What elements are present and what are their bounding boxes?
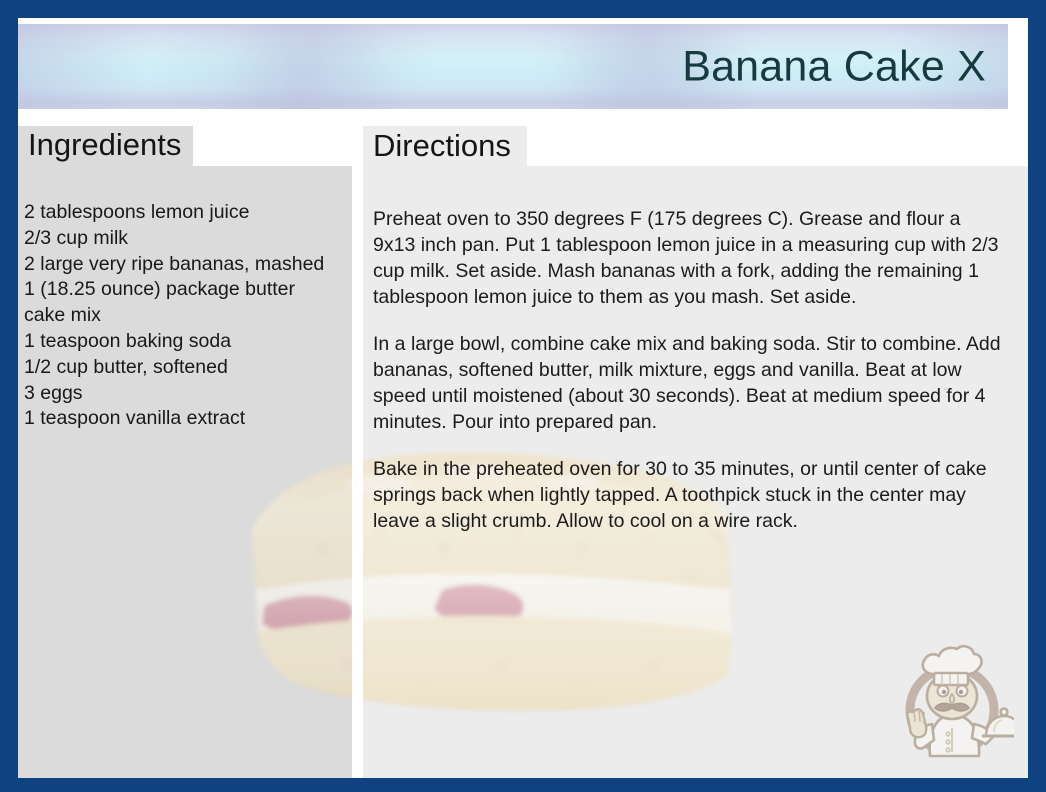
ingredient-line: 2 tablespoons lemon juice bbox=[24, 200, 364, 226]
ingredient-line: 2 large very ripe bananas, mashed bbox=[24, 252, 364, 278]
ingredient-line: 1 teaspoon vanilla extract bbox=[24, 406, 364, 432]
direction-paragraph: Bake in the preheated oven for 30 to 35 … bbox=[373, 456, 1006, 534]
direction-paragraph: Preheat oven to 350 degrees F (175 degre… bbox=[373, 206, 1006, 310]
recipe-card: Banana Cake X Preheat oven to 350 degree… bbox=[0, 0, 1046, 792]
page-title: Banana Cake X bbox=[682, 42, 986, 91]
directions-heading: Directions bbox=[373, 128, 511, 164]
ingredient-line: cake mix bbox=[24, 303, 364, 329]
panel-divider bbox=[352, 166, 363, 778]
directions-text: Preheat oven to 350 degrees F (175 degre… bbox=[373, 206, 1006, 534]
chef-with-cloche-logo bbox=[890, 640, 1014, 764]
ingredient-line: 1 (18.25 ounce) package butter bbox=[24, 277, 364, 303]
ingredient-line: 3 eggs bbox=[24, 381, 364, 407]
header-banner: Banana Cake X bbox=[18, 24, 1008, 109]
direction-paragraph: In a large bowl, combine cake mix and ba… bbox=[373, 331, 1006, 435]
ingredient-line: 1 teaspoon baking soda bbox=[24, 329, 364, 355]
card-inner-surface: Banana Cake X Preheat oven to 350 degree… bbox=[18, 18, 1028, 778]
ingredients-text: 2 tablespoons lemon juice2/3 cup milk2 l… bbox=[24, 200, 364, 432]
ingredient-line: 1/2 cup butter, softened bbox=[24, 355, 364, 381]
ingredient-line: 2/3 cup milk bbox=[24, 226, 364, 252]
ingredients-heading: Ingredients bbox=[28, 127, 181, 163]
